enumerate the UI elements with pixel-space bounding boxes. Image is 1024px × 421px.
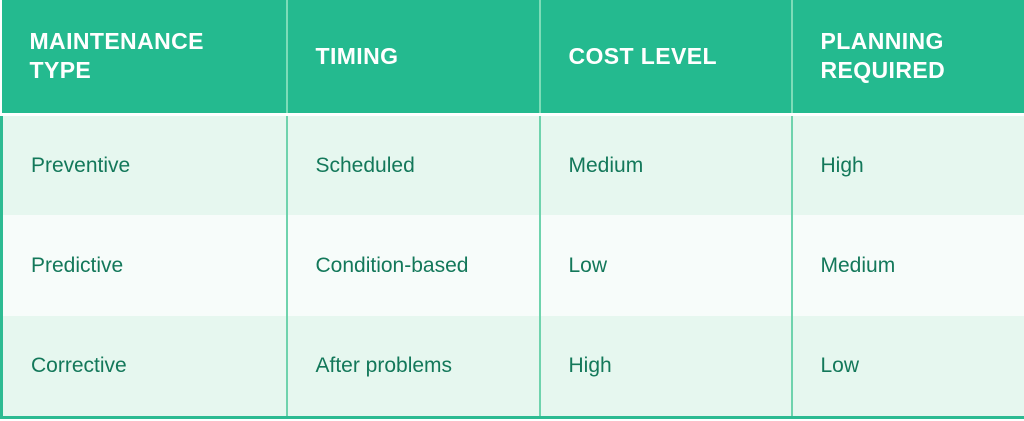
table-body: Preventive Scheduled Medium High Predict…	[2, 114, 1024, 417]
cell-cost-level: Low	[540, 215, 792, 316]
cell-cost-level: High	[540, 316, 792, 417]
table-row: Preventive Scheduled Medium High	[2, 114, 1024, 215]
table-row: Corrective After problems High Low	[2, 316, 1024, 417]
cell-maintenance-type: Preventive	[2, 114, 287, 215]
cell-cost-level: Medium	[540, 114, 792, 215]
cell-timing: Condition-based	[287, 215, 540, 316]
column-header-cost-level: COST LEVEL	[540, 0, 792, 114]
cell-timing: Scheduled	[287, 114, 540, 215]
table-row: Predictive Condition-based Low Medium	[2, 215, 1024, 316]
table-header-row: MAINTENANCE TYPE TIMING COST LEVEL PLANN…	[2, 0, 1024, 114]
table-header: MAINTENANCE TYPE TIMING COST LEVEL PLANN…	[2, 0, 1024, 114]
cell-maintenance-type: Predictive	[2, 215, 287, 316]
maintenance-comparison-table: MAINTENANCE TYPE TIMING COST LEVEL PLANN…	[0, 0, 1024, 419]
cell-planning-required: Low	[792, 316, 1024, 417]
cell-maintenance-type: Corrective	[2, 316, 287, 417]
cell-planning-required: Medium	[792, 215, 1024, 316]
column-header-maintenance-type: MAINTENANCE TYPE	[2, 0, 287, 114]
cell-timing: After problems	[287, 316, 540, 417]
comparison-table-container: MAINTENANCE TYPE TIMING COST LEVEL PLANN…	[0, 0, 1024, 421]
column-header-timing: TIMING	[287, 0, 540, 114]
column-header-planning-required: PLANNING REQUIRED	[792, 0, 1024, 114]
cell-planning-required: High	[792, 114, 1024, 215]
